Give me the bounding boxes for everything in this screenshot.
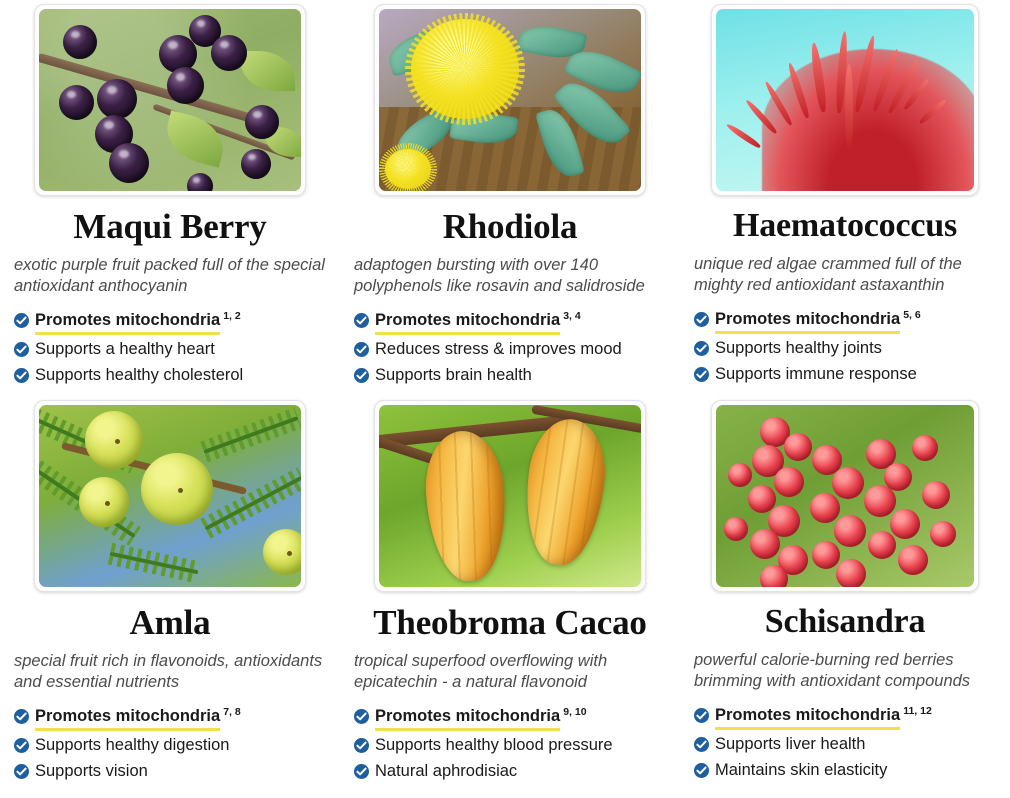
benefit-references: 7, 8 <box>223 706 241 718</box>
benefit-item: Promotes mitochondria9, 10 <box>354 706 666 731</box>
benefit-item: Reduces stress & improves mood <box>354 339 666 361</box>
ingredient-card-haematococcus: Haematococcus unique red algae crammed f… <box>680 4 1010 400</box>
benefit-label: Reduces stress & improves mood <box>375 339 622 361</box>
check-circle-icon <box>354 342 369 357</box>
benefit-item: Promotes mitochondria11, 12 <box>694 705 996 730</box>
amla-photo <box>39 405 301 587</box>
check-circle-icon <box>694 341 709 356</box>
benefit-item: Supports liver health <box>694 734 996 756</box>
benefit-item: Supports immune response <box>694 364 996 386</box>
benefit-label: Supports immune response <box>715 364 917 386</box>
benefit-label: Supports brain health <box>375 365 532 387</box>
check-circle-icon <box>694 737 709 752</box>
benefit-item: Supports healthy blood pressure <box>354 735 666 757</box>
schisandra-photo <box>716 405 974 587</box>
check-circle-icon <box>14 368 29 383</box>
benefit-item: Supports brain health <box>354 365 666 387</box>
ingredient-card-amla: Amla special fruit rich in flavonoids, a… <box>0 400 340 796</box>
check-circle-icon <box>354 709 369 724</box>
benefit-references: 11, 12 <box>903 705 932 717</box>
ingredient-description: unique red algae crammed full of the mig… <box>694 254 996 296</box>
ingredient-card-schisandra: Schisandra powerful calorie-burning red … <box>680 400 1010 796</box>
ingredient-description: adaptogen bursting with over 140 polyphe… <box>354 255 666 297</box>
benefit-list: Promotes mitochondria5, 6 Supports healt… <box>694 309 996 390</box>
benefit-label: Natural aphrodisiac <box>375 761 517 783</box>
benefit-list: Promotes mitochondria11, 12 Supports liv… <box>694 705 996 786</box>
ingredient-photo-frame <box>374 400 646 592</box>
benefit-label: Promotes mitochondria <box>375 310 560 335</box>
check-circle-icon <box>14 738 29 753</box>
benefit-item: Supports healthy cholesterol <box>14 365 326 387</box>
benefit-references: 3, 4 <box>563 310 581 322</box>
benefit-item: Promotes mitochondria7, 8 <box>14 706 326 731</box>
ingredient-description: tropical superfood overflowing with epic… <box>354 651 666 693</box>
check-circle-icon <box>14 313 29 328</box>
benefit-label: Supports a healthy heart <box>35 339 215 361</box>
benefit-item: Supports healthy digestion <box>14 735 326 757</box>
benefit-label: Supports healthy cholesterol <box>35 365 243 387</box>
ingredient-title: Schisandra <box>694 604 996 640</box>
benefit-label: Promotes mitochondria <box>715 309 900 334</box>
ingredient-title: Haematococcus <box>694 208 996 244</box>
benefit-item: Supports a healthy heart <box>14 339 326 361</box>
check-circle-icon <box>14 342 29 357</box>
check-circle-icon <box>14 764 29 779</box>
ingredient-description: special fruit rich in flavonoids, antiox… <box>14 651 326 693</box>
ingredient-description: powerful calorie-burning red berries bri… <box>694 650 996 692</box>
check-circle-icon <box>694 763 709 778</box>
benefit-label: Supports healthy joints <box>715 338 882 360</box>
check-circle-icon <box>14 709 29 724</box>
rhodiola-photo <box>379 9 641 191</box>
theobroma-cacao-photo <box>379 405 641 587</box>
ingredient-title: Maqui Berry <box>14 208 326 245</box>
check-circle-icon <box>354 738 369 753</box>
benefit-label: Promotes mitochondria <box>35 310 220 335</box>
benefit-label: Promotes mitochondria <box>375 706 560 731</box>
ingredient-card-rhodiola: Rhodiola adaptogen bursting with over 14… <box>340 4 680 400</box>
ingredient-grid: Maqui Berry exotic purple fruit packed f… <box>0 0 1010 798</box>
benefit-list: Promotes mitochondria7, 8 Supports healt… <box>14 706 326 787</box>
ingredient-photo-frame <box>34 4 306 196</box>
benefit-item: Supports healthy joints <box>694 338 996 360</box>
benefit-label: Promotes mitochondria <box>35 706 220 731</box>
ingredient-title: Rhodiola <box>354 208 666 245</box>
benefit-list: Promotes mitochondria3, 4 Reduces stress… <box>354 310 666 391</box>
benefit-label: Supports liver health <box>715 734 865 756</box>
check-circle-icon <box>694 708 709 723</box>
benefit-list: Promotes mitochondria9, 10 Supports heal… <box>354 706 666 787</box>
ingredient-photo-frame <box>711 4 979 196</box>
check-circle-icon <box>694 312 709 327</box>
check-circle-icon <box>354 313 369 328</box>
benefit-label: Promotes mitochondria <box>715 705 900 730</box>
maqui-berry-photo <box>39 9 301 191</box>
ingredient-title: Theobroma Cacao <box>354 604 666 641</box>
ingredient-card-maqui-berry: Maqui Berry exotic purple fruit packed f… <box>0 4 340 400</box>
haematococcus-photo <box>716 9 974 191</box>
check-circle-icon <box>354 764 369 779</box>
ingredient-photo-frame <box>374 4 646 196</box>
ingredient-title: Amla <box>14 604 326 641</box>
ingredient-photo-frame <box>34 400 306 592</box>
benefit-item: Promotes mitochondria1, 2 <box>14 310 326 335</box>
ingredient-photo-frame <box>711 400 979 592</box>
benefit-label: Supports healthy digestion <box>35 735 229 757</box>
ingredient-card-theobroma-cacao: Theobroma Cacao tropical superfood overf… <box>340 400 680 796</box>
benefit-list: Promotes mitochondria1, 2 Supports a hea… <box>14 310 326 391</box>
ingredient-description: exotic purple fruit packed full of the s… <box>14 255 326 297</box>
benefit-references: 9, 10 <box>563 706 586 718</box>
check-circle-icon <box>354 368 369 383</box>
benefit-item: Promotes mitochondria3, 4 <box>354 310 666 335</box>
benefit-references: 5, 6 <box>903 309 921 321</box>
benefit-item: Promotes mitochondria5, 6 <box>694 309 996 334</box>
check-circle-icon <box>694 367 709 382</box>
benefit-label: Supports vision <box>35 761 148 783</box>
benefit-label: Supports healthy blood pressure <box>375 735 613 757</box>
benefit-item: Natural aphrodisiac <box>354 761 666 783</box>
benefit-references: 1, 2 <box>223 310 241 322</box>
benefit-item: Supports vision <box>14 761 326 783</box>
benefit-item: Maintains skin elasticity <box>694 760 996 782</box>
benefit-label: Maintains skin elasticity <box>715 760 887 782</box>
